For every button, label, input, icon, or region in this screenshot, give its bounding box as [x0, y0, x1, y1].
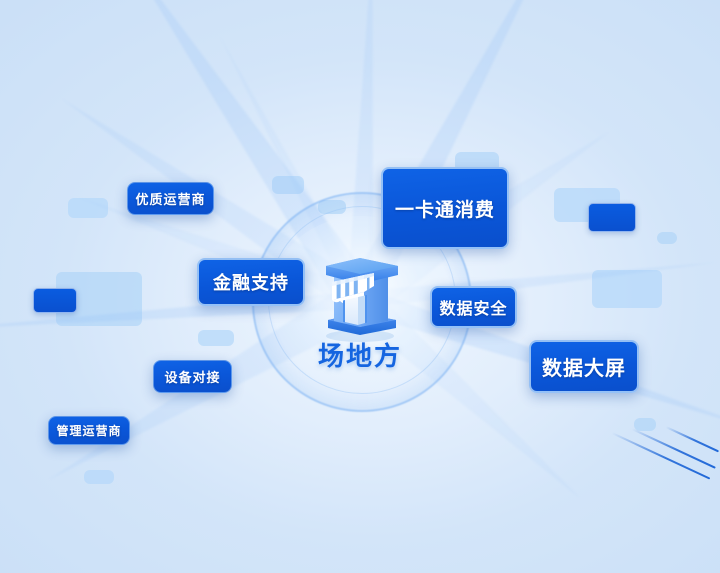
shop-3d-icon: [312, 242, 408, 342]
decor-rect: [84, 470, 114, 484]
node-chip-label: 优质运营商: [135, 189, 205, 208]
center-label: 场地方: [300, 336, 420, 373]
decor-rect: [592, 270, 662, 308]
node-chip-label: 金融支持: [213, 269, 289, 295]
decor-rect: [634, 418, 656, 431]
node-chip-daping[interactable]: 数据大屏: [529, 340, 639, 393]
node-chip-anquan[interactable]: 数据安全: [430, 286, 517, 328]
node-chip-label: 管理运营商: [56, 422, 121, 439]
node-chip-label: 一卡通消费: [395, 195, 495, 222]
node-chip-label: 数据安全: [439, 295, 507, 319]
node-chip-jinrong[interactable]: 金融支持: [197, 258, 305, 306]
decor-rect: [272, 176, 304, 194]
node-chip-label: 设备对接: [164, 367, 220, 386]
decor-rect-solid: [588, 203, 636, 232]
decor-rect: [68, 198, 108, 218]
decor-rect: [198, 330, 234, 346]
infographic-canvas: 场地方 一卡通消费金融支持优质运营商数据安全数据大屏设备对接管理运营商: [0, 0, 720, 573]
node-chip-youzhi[interactable]: 优质运营商: [127, 182, 214, 215]
decor-rect-solid: [33, 288, 77, 313]
node-chip-guanli[interactable]: 管理运营商: [48, 416, 130, 445]
node-chip-shebei[interactable]: 设备对接: [153, 360, 232, 393]
node-chip-label: 数据大屏: [542, 352, 626, 381]
decor-rect: [657, 232, 677, 244]
node-chip-yka[interactable]: 一卡通消费: [381, 167, 509, 249]
